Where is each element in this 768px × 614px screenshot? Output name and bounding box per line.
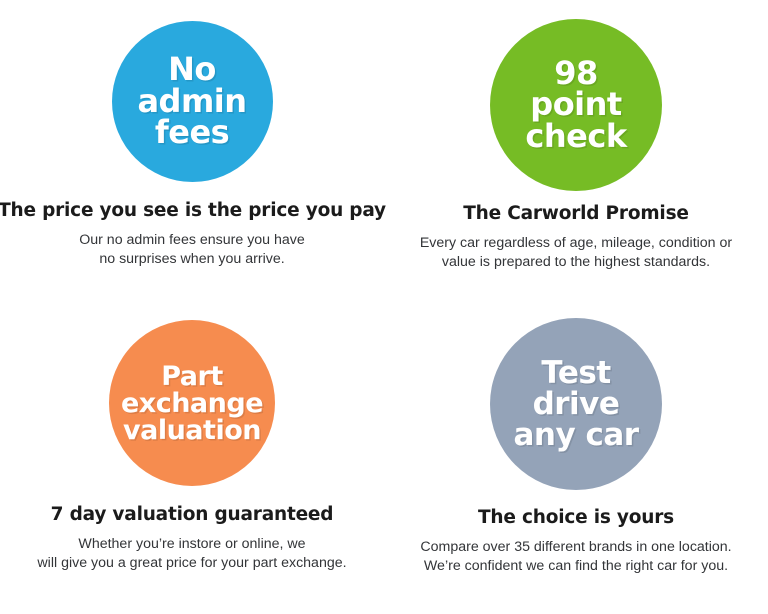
feature-description: Compare over 35 different brands in one … [420,538,731,575]
badge-line: check [525,117,626,155]
description-line: We’re confident we can find the right ca… [420,557,731,576]
badge-label: No admin fees [112,54,273,148]
badge-label: Test drive any car [490,358,662,451]
description-line: no surprises when you arrive. [79,250,305,269]
badge-line: any car [513,417,638,453]
badge-line: valuation [123,415,261,446]
feature-card-98-point-check[interactable]: 98 point check The Carworld Promise Ever… [384,0,768,307]
badge-label: Part exchange valuation [109,363,275,444]
description-line: Whether you’re instore or online, we [37,535,346,554]
badge-part-exchange-valuation: Part exchange valuation [109,320,275,486]
feature-card-test-drive-any-car[interactable]: Test drive any car The choice is yours C… [384,307,768,614]
badge-label: 98 point check [490,58,662,152]
badge-no-admin-fees: No admin fees [112,21,273,182]
feature-grid: No admin fees The price you see is the p… [0,0,768,614]
feature-headline: 7 day valuation guaranteed [51,504,334,525]
feature-card-no-admin-fees[interactable]: No admin fees The price you see is the p… [0,0,384,307]
feature-headline: The price you see is the price you pay [0,200,386,221]
description-line: Compare over 35 different brands in one … [420,538,731,557]
feature-description: Our no admin fees ensure you have no sur… [79,231,305,268]
feature-description: Whether you’re instore or online, we wil… [37,535,346,572]
feature-card-part-exchange-valuation[interactable]: Part exchange valuation 7 day valuation … [0,307,384,614]
feature-headline: The choice is yours [478,507,674,528]
description-line: value is prepared to the highest standar… [420,253,732,272]
description-line: Our no admin fees ensure you have [79,231,305,250]
description-line: will give you a great price for your par… [37,554,346,573]
badge-line: fees [155,113,229,151]
badge-test-drive-any-car: Test drive any car [490,318,662,490]
description-line: Every car regardless of age, mileage, co… [420,234,732,253]
feature-description: Every car regardless of age, mileage, co… [420,234,732,271]
feature-headline: The Carworld Promise [463,203,688,224]
badge-98-point-check: 98 point check [490,19,662,191]
